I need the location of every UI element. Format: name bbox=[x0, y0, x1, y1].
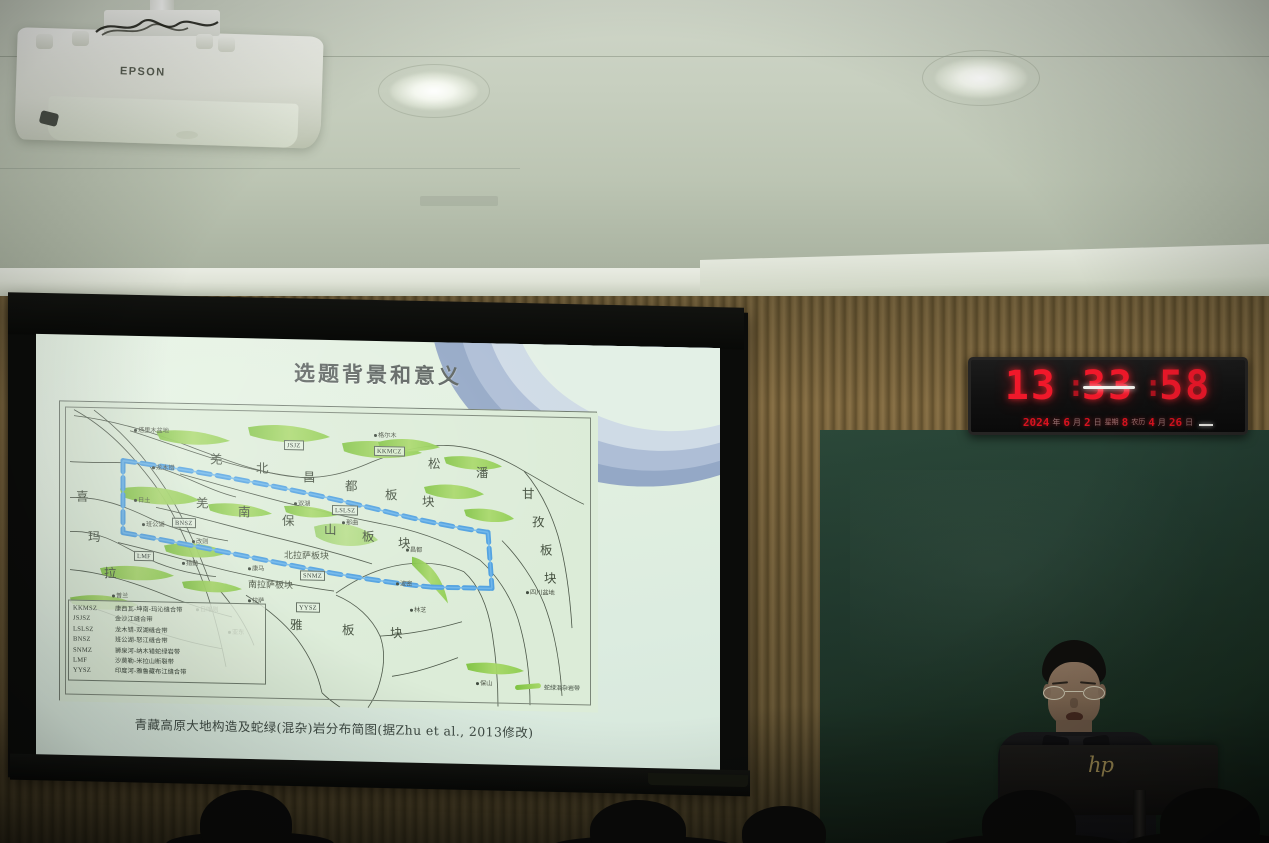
map-city-dot bbox=[142, 523, 145, 526]
legend-code: YYSZ bbox=[73, 666, 115, 677]
map-suture-code: LMF bbox=[134, 551, 154, 561]
map-place-label: 塔里木盆地 bbox=[138, 425, 169, 435]
ceiling-vent bbox=[420, 196, 498, 206]
map-city-dot bbox=[406, 549, 409, 552]
map-place-label: 板 bbox=[362, 526, 376, 545]
map-place-label: 块 bbox=[422, 491, 436, 510]
map-place-label: 板 bbox=[385, 484, 399, 503]
clock-separator: : bbox=[1144, 369, 1149, 404]
legend-name: 印度河-雅鲁藏布江缝合带 bbox=[115, 667, 261, 680]
map-place-label: 雅 bbox=[290, 614, 304, 633]
clock-seconds: 58 bbox=[1159, 363, 1211, 409]
projector-lens bbox=[176, 131, 198, 139]
clock-glare bbox=[1083, 386, 1135, 389]
map-city-dot bbox=[342, 521, 345, 524]
ceiling-downlight bbox=[935, 58, 1027, 98]
presenter-nose bbox=[1070, 698, 1078, 708]
digital-wall-clock: 13 : 33 : 58 2024 年 6 月 2 日 星期 8 农历 4 月 … bbox=[968, 357, 1248, 435]
ophiolite-key: 蛇绿混杂岩带 bbox=[515, 682, 580, 692]
presentation-slide: 选题背景和意义 bbox=[36, 334, 720, 774]
map-place-label: 潘 bbox=[476, 462, 490, 481]
map-city-dot bbox=[134, 499, 137, 502]
hp-logo: hp bbox=[1088, 753, 1122, 779]
map-city-dot bbox=[374, 434, 377, 437]
map-place-label: 保山 bbox=[480, 678, 492, 687]
projector-cables bbox=[92, 16, 222, 38]
map-place-label: 四川盆地 bbox=[530, 587, 555, 597]
projector-adjust-knob bbox=[72, 31, 89, 46]
map-place-label: 班公湖 bbox=[146, 519, 165, 528]
map-suture-code: YYSZ bbox=[296, 602, 320, 613]
projector-brand-label: EPSON bbox=[120, 65, 166, 78]
map-place-label: 松 bbox=[428, 453, 442, 472]
map-place-label: 格尔木 bbox=[378, 430, 397, 439]
ceiling-downlight bbox=[390, 72, 478, 110]
map-place-label: 山 bbox=[324, 519, 338, 538]
clock-weekday-label: 星期 bbox=[1105, 419, 1119, 426]
slide-title: 选题背景和意义 bbox=[36, 352, 720, 396]
map-place-label: 孜 bbox=[532, 511, 546, 530]
clock-lunar-day: 26 bbox=[1169, 416, 1182, 429]
map-place-label: 昌 bbox=[303, 466, 317, 485]
geology-map-figure: 塔里木盆地格尔木羌北昌都板块松潘甘孜板块龙木错日土羌南保山板块班公湖改则双湖那曲… bbox=[59, 400, 597, 711]
clock-year: 2024 bbox=[1023, 416, 1050, 429]
lecture-hall-scene: EPSON 13 : 33 : 58 2024 年 6 月 2 日 星期 8 农… bbox=[0, 0, 1269, 843]
projector-adjust-knob bbox=[36, 34, 53, 49]
clock-lunar-label: 农历 bbox=[1131, 419, 1145, 426]
map-place-label: 拉 bbox=[104, 562, 118, 581]
map-suture-code: LSLSZ bbox=[332, 505, 358, 516]
clock-month: 6 bbox=[1063, 416, 1070, 429]
clock-weekday-value: 8 bbox=[1122, 416, 1129, 429]
map-place-label: 都 bbox=[345, 475, 359, 494]
map-place-label: 喜 bbox=[76, 486, 90, 505]
map-place-label: 龙木错 bbox=[156, 462, 175, 471]
projector-adjust-knob bbox=[218, 37, 235, 52]
map-city-dot bbox=[396, 582, 399, 585]
clock-date-display: 2024 年 6 月 2 日 星期 8 农历 4 月 26 日 bbox=[971, 410, 1245, 434]
figure-caption: 青藏高原大地构造及蛇绿(混杂)岩分布简图(据Zhu et al., 2013修改… bbox=[36, 712, 632, 743]
map-city-dot bbox=[248, 567, 251, 570]
map-place-label: 羌 bbox=[196, 492, 210, 511]
projection-screen-weight-bar bbox=[648, 773, 748, 787]
map-place-label: 日土 bbox=[138, 495, 150, 504]
map-place-label: 北 bbox=[256, 457, 270, 476]
glasses-bridge bbox=[1065, 691, 1083, 692]
map-place-label: 那曲 bbox=[346, 517, 358, 526]
map-place-label: 块 bbox=[544, 567, 558, 586]
clock-lunar-day-unit: 日 bbox=[1185, 417, 1193, 428]
map-place-label: 北拉萨板块 bbox=[284, 548, 329, 562]
clock-day: 2 bbox=[1084, 416, 1091, 429]
map-suture-code: JSJZ bbox=[284, 440, 304, 450]
ophiolite-key-label: 蛇绿混杂岩带 bbox=[544, 682, 580, 692]
map-city-dot bbox=[410, 609, 413, 612]
clock-lunar-month: 4 bbox=[1148, 416, 1155, 429]
map-place-label: 羌 bbox=[210, 448, 224, 467]
clock-month-unit: 月 bbox=[1073, 417, 1081, 428]
map-place-label: 板 bbox=[540, 539, 554, 558]
map-city-dot bbox=[476, 682, 479, 685]
map-place-label: 林芝 bbox=[414, 605, 426, 614]
map-city-dot bbox=[112, 594, 115, 597]
map-legend: KKMSZ康西瓦-坤南-玛沁缝合带JSJSZ金沙江缝合带LSLSZ龙木错-双湖缝… bbox=[68, 600, 266, 685]
map-suture-code: SNMZ bbox=[300, 570, 325, 581]
map-city-dot bbox=[152, 466, 155, 469]
map-place-label: 南拉萨板块 bbox=[248, 577, 293, 591]
map-suture-code: KKMCZ bbox=[374, 446, 405, 457]
map-city-dot bbox=[294, 502, 297, 505]
map-place-label: 昌都 bbox=[410, 545, 422, 554]
projector-lens-housing bbox=[47, 96, 298, 148]
clock-lunar-month-unit: 月 bbox=[1158, 417, 1166, 428]
map-place-label: 保 bbox=[282, 510, 296, 529]
map-city-dot bbox=[182, 562, 185, 565]
map-place-label: 南 bbox=[238, 501, 252, 520]
map-place-label: 普兰 bbox=[116, 591, 128, 600]
map-suture-code: BNSZ bbox=[172, 518, 196, 528]
clock-glare bbox=[1199, 424, 1213, 426]
map-city-dot bbox=[526, 591, 529, 594]
clock-hours: 13 bbox=[1005, 363, 1057, 409]
ophiolite-swatch bbox=[515, 683, 541, 690]
map-place-label: 玛 bbox=[88, 526, 102, 545]
map-city-dot bbox=[134, 429, 137, 432]
map-place-label: 甘 bbox=[522, 483, 536, 502]
map-place-label: 双湖 bbox=[298, 498, 310, 507]
clock-year-unit: 年 bbox=[1052, 417, 1060, 428]
map-place-label: 措勤 bbox=[186, 558, 198, 567]
glasses-lens bbox=[1083, 686, 1105, 700]
map-city-dot bbox=[192, 540, 195, 543]
map-place-label: 改则 bbox=[196, 536, 208, 545]
map-city-dot bbox=[248, 599, 251, 602]
map-place-label: 波密 bbox=[400, 578, 412, 587]
clock-day-unit: 日 bbox=[1094, 417, 1102, 428]
glasses-lens bbox=[1043, 686, 1065, 700]
clock-separator: : bbox=[1067, 369, 1072, 404]
map-place-label: 板 bbox=[342, 619, 356, 638]
ceiling-seam bbox=[0, 168, 520, 169]
map-place-label: 块 bbox=[390, 622, 404, 641]
map-place-label: 康马 bbox=[252, 563, 264, 572]
